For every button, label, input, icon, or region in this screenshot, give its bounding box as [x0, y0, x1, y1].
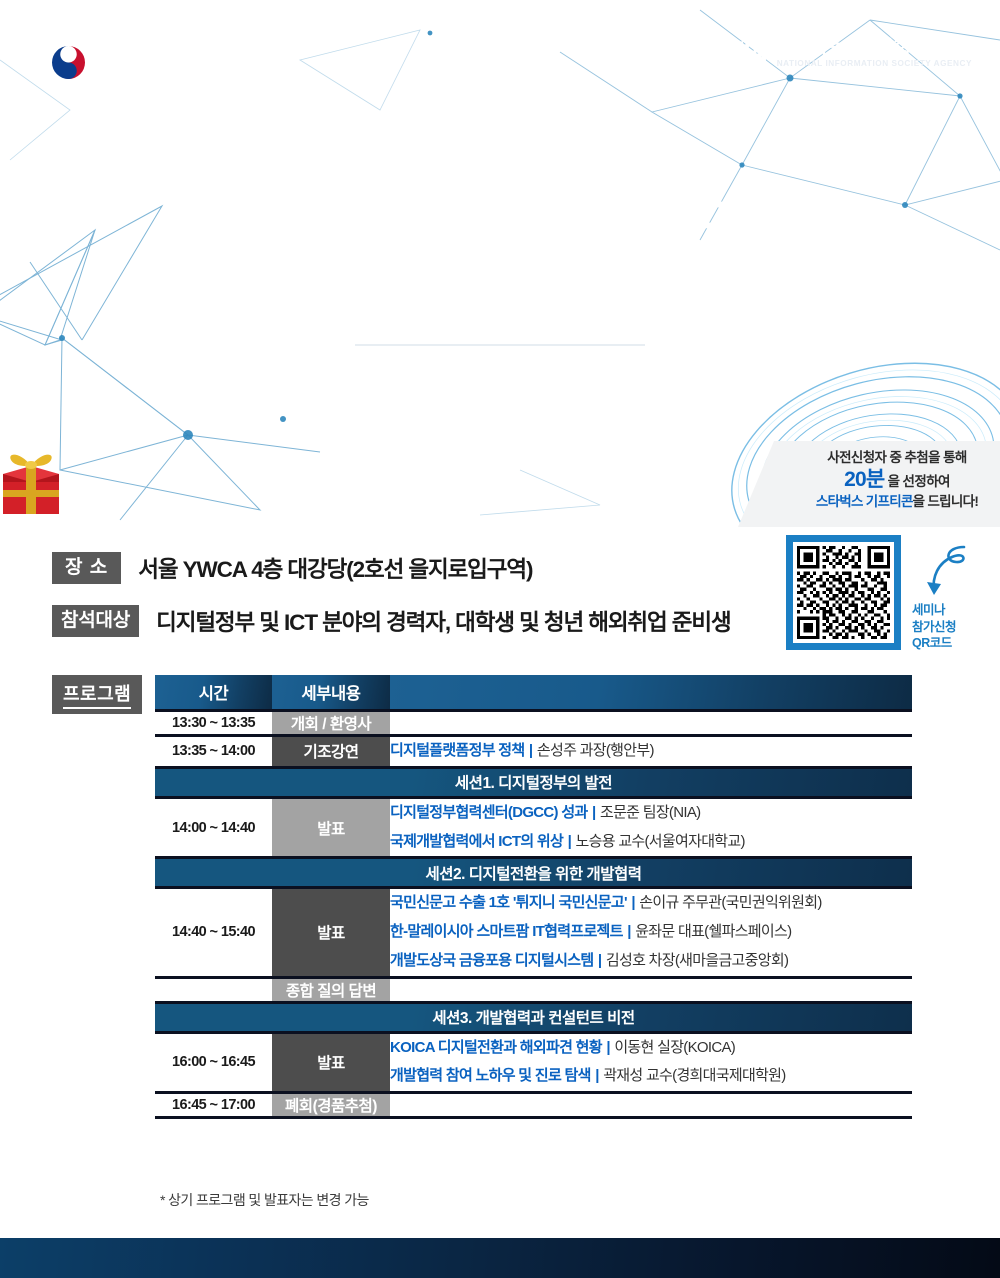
program-label: 프로그램: [52, 675, 142, 714]
row-kind: 폐회(경품추첨): [272, 1094, 390, 1116]
row-kind: 발표: [272, 799, 390, 857]
column-header-spacer: [390, 675, 912, 709]
seminar-poster: 행정안전부 NIA 한국지능정보사회진흥원 NATIONAL INFORMATI…: [0, 0, 1000, 1278]
qr-caption-line-3: QR코드: [912, 635, 956, 652]
talk-title: 개발도상국 금융포용 디지털시스템: [390, 952, 593, 969]
table-row: 16:00 ~ 16:45발표KOICA 디지털전환과 해외파견 현황 | 이동…: [155, 1034, 912, 1092]
talk-speaker: 노승용 교수(서울여자대학교): [576, 833, 745, 850]
talk-separator: |: [588, 804, 600, 821]
talk-speaker: 손이규 주무관(국민권익위원회): [639, 894, 821, 911]
table-row: 13:35 ~ 14:00기조강연디지털플랫폼정부 정책 | 손성주 과장(행안…: [155, 737, 912, 766]
row-time: 13:35 ~ 14:00: [155, 737, 272, 766]
program-label-text: 프로그램: [63, 680, 131, 709]
header-logos: 행정안전부 NIA 한국지능정보사회진흥원 NATIONAL INFORMATI…: [0, 0, 1000, 120]
title-divider: [355, 344, 645, 346]
mois-logo-label: 행정안전부: [98, 47, 199, 78]
qr-caption-line-2: 참가신청: [912, 619, 956, 636]
qr-code-icon[interactable]: [797, 546, 890, 639]
taegeuk-emblem-icon: [48, 42, 89, 83]
row-kind: 발표: [272, 889, 390, 975]
table-row: 13:30 ~ 13:35개회 / 환영사: [155, 712, 912, 734]
qr-caption: 세미나 참가신청 QR코드: [912, 602, 956, 652]
subtitle-text: 디지털전환 성과와 해외사업 참여 정보 공유: [0, 363, 1000, 398]
row-detail: 국민신문고 수출 1호 '튀지니 국민신문고' | 손이규 주무관(국민권익위원…: [390, 889, 912, 975]
promo-text: 사전신청자 중 추첨을 통해 20분 을 선정하여 스타벅스 기프티콘을 드립니…: [799, 450, 995, 510]
session-header-row: 세션2. 디지털전환을 위한 개발협력: [155, 859, 912, 886]
program-table: 시간세부내용13:30 ~ 13:35개회 / 환영사13:35 ~ 14:00…: [155, 675, 912, 1119]
talk-separator: |: [602, 1039, 614, 1056]
session-label: 세션3. 개발협력과 컨설턴트 비전: [155, 1004, 912, 1031]
column-header-time: 시간: [155, 675, 272, 709]
session-header-row: 세션3. 개발협력과 컨설턴트 비전: [155, 1004, 912, 1031]
row-time: 16:00 ~ 16:45: [155, 1034, 272, 1092]
mois-logo: 행정안전부: [48, 42, 199, 83]
table-row: 14:00 ~ 14:40발표디지털정부협력센터(DGCC) 성과 | 조문준 …: [155, 799, 912, 857]
talk-separator: |: [593, 952, 605, 969]
row-detail: 디지털정부협력센터(DGCC) 성과 | 조문준 팀장(NIA)국제개발협력에서…: [390, 799, 912, 857]
time-range-text: 13:30 ~ 17:00: [442, 411, 681, 455]
talk-speaker: 손성주 과장(행안부): [537, 742, 654, 759]
row-time: [155, 979, 272, 1001]
content-area: 세미나 참가신청 QR코드 장 소 서울 YWCA 4층 대강당(2호선 을지로…: [0, 527, 1000, 1238]
year-text: 2022: [0, 132, 1000, 184]
program-table-header-row: 시간세부내용: [155, 675, 912, 709]
promo-line-1: 사전신청자 중 추첨을 통해: [799, 450, 995, 466]
gift-box-icon: [0, 444, 67, 520]
talk-title: KOICA 디지털전환과 해외파견 현황: [390, 1039, 602, 1056]
talk-entry: 디지털플랫폼정부 정책 | 손성주 과장(행안부): [390, 737, 912, 766]
talk-entry: 디지털정부협력센터(DGCC) 성과 | 조문준 팀장(NIA): [390, 799, 912, 828]
row-detail: 디지털플랫폼정부 정책 | 손성주 과장(행안부): [390, 737, 912, 766]
audience-value: 디지털정부 및 ICT 분야의 경력자, 대학생 및 청년 해외취업 준비생: [156, 605, 730, 637]
qr-caption-line-1: 세미나: [912, 602, 956, 619]
session-header-row: 세션1. 디지털정부의 발전: [155, 769, 912, 796]
talk-entry: 한-말레이시아 스마트팜 IT협력프로젝트 | 윤좌문 대표(쉘파스페이스): [390, 918, 912, 947]
date-text: 12/6: [319, 411, 395, 455]
row-time: 14:40 ~ 15:40: [155, 889, 272, 975]
talk-speaker: 조문준 팀장(NIA): [600, 804, 700, 821]
talk-title: 디지털플랫폼정부 정책: [390, 742, 524, 759]
table-row: 종합 질의 답변: [155, 979, 912, 1001]
talk-title: 한-말레이시아 스마트팜 IT협력프로젝트: [390, 923, 623, 940]
talk-separator: |: [563, 833, 575, 850]
nia-mark: NIA: [718, 38, 769, 68]
title-line-2: 해외 진출전략 세미나: [0, 257, 1000, 321]
row-detail: [390, 712, 912, 734]
table-row: 16:45 ~ 17:00폐회(경품추첨): [155, 1094, 912, 1116]
row-detail: [390, 979, 912, 1001]
nia-name-kr: 한국지능정보사회진흥원: [777, 38, 972, 57]
row-kind: 개회 / 환영사: [272, 712, 390, 734]
talk-entry: 국제개발협력에서 ICT의 위상 | 노승용 교수(서울여자대학교): [390, 828, 912, 857]
row-detail: KOICA 디지털전환과 해외파견 현황 | 이동현 실장(KOICA)개발협력…: [390, 1034, 912, 1092]
program-table-body: 시간세부내용13:30 ~ 13:35개회 / 환영사13:35 ~ 14:00…: [155, 675, 912, 1119]
audience-row: 참석대상 디지털정부 및 ICT 분야의 경력자, 대학생 및 청년 해외취업 …: [52, 605, 731, 637]
talk-entry: KOICA 디지털전환과 해외파견 현황 | 이동현 실장(KOICA): [390, 1034, 912, 1063]
curved-arrow-icon: [918, 545, 972, 607]
talk-separator: |: [591, 1067, 603, 1084]
promo-panel: 사전신청자 중 추첨을 통해 20분 을 선정하여 스타벅스 기프티콘을 드립니…: [738, 441, 1000, 527]
venue-row: 장 소 서울 YWCA 4층 대강당(2호선 을지로입구역): [52, 552, 532, 584]
promo-line-3-rest: 을 드립니다!: [913, 494, 978, 509]
row-separator: [155, 1116, 912, 1119]
venue-value: 서울 YWCA 4층 대강당(2호선 을지로입구역): [138, 552, 532, 584]
row-time: 13:30 ~ 13:35: [155, 712, 272, 734]
table-row: 14:40 ~ 15:40발표국민신문고 수출 1호 '튀지니 국민신문고' |…: [155, 889, 912, 975]
talk-separator: |: [623, 923, 635, 940]
session-label: 세션1. 디지털정부의 발전: [155, 769, 912, 796]
promo-line-3: 스타벅스 기프티콘을 드립니다!: [799, 494, 995, 510]
row-kind: 발표: [272, 1034, 390, 1092]
program-note: * 상기 프로그램 및 발표자는 변경 가능: [160, 1190, 369, 1210]
talk-title: 국민신문고 수출 1호 '튀지니 국민신문고': [390, 894, 627, 911]
talk-title: 디지털정부협력센터(DGCC) 성과: [390, 804, 588, 821]
row-kind: 기조강연: [272, 737, 390, 766]
talk-speaker: 곽재성 교수(경희대국제대학원): [603, 1067, 785, 1084]
row-detail: [390, 1094, 912, 1116]
talk-title: 국제개발협력에서 ICT의 위상: [390, 833, 563, 850]
title-block: 2022 디지털정부/ICT 전문가 해외 진출전략 세미나 디지털전환 성과와…: [0, 132, 1000, 456]
audience-label: 참석대상: [52, 605, 139, 637]
talk-separator: |: [627, 894, 639, 911]
talk-speaker: 김성호 차장(새마을금고중앙회): [606, 952, 788, 969]
nia-logo: NIA 한국지능정보사회진흥원 NATIONAL INFORMATION SOC…: [720, 38, 972, 68]
talk-entry: 국민신문고 수출 1호 '튀지니 국민신문고' | 손이규 주무관(국민권익위원…: [390, 889, 912, 918]
promo-highlight-gift: 스타벅스 기프티콘: [816, 494, 913, 509]
title-line-1: 디지털정부/ICT 전문가: [0, 193, 1000, 257]
session-label: 세션2. 디지털전환을 위한 개발협력: [155, 859, 912, 886]
venue-label: 장 소: [52, 552, 121, 584]
talk-separator: |: [524, 742, 536, 759]
promo-highlight-count: 20분: [844, 468, 884, 491]
talk-speaker: 이동현 실장(KOICA): [614, 1039, 735, 1056]
row-time: 16:45 ~ 17:00: [155, 1094, 272, 1116]
footer-bar: [0, 1238, 1000, 1278]
qr-code-frame[interactable]: [786, 535, 901, 650]
promo-line-2: 20분 을 선정하여: [799, 468, 995, 493]
talk-speaker: 윤좌문 대표(쉘파스페이스): [635, 923, 791, 940]
row-time: 14:00 ~ 14:40: [155, 799, 272, 857]
day-of-week-text: (화): [395, 425, 432, 452]
column-header-detail: 세부내용: [272, 675, 390, 709]
talk-entry: 개발협력 참여 노하우 및 진로 탐색 | 곽재성 교수(경희대국제대학원): [390, 1062, 912, 1091]
talk-title: 개발협력 참여 노하우 및 진로 탐색: [390, 1067, 591, 1084]
promo-line-2-rest: 을 선정하여: [888, 474, 950, 489]
talk-entry: 개발도상국 금융포용 디지털시스템 | 김성호 차장(새마을금고중앙회): [390, 947, 912, 976]
hero-banner: 행정안전부 NIA 한국지능정보사회진흥원 NATIONAL INFORMATI…: [0, 0, 1000, 527]
row-kind: 종합 질의 답변: [272, 979, 390, 1001]
nia-name-en: NATIONAL INFORMATION SOCIETY AGENCY: [777, 59, 972, 68]
